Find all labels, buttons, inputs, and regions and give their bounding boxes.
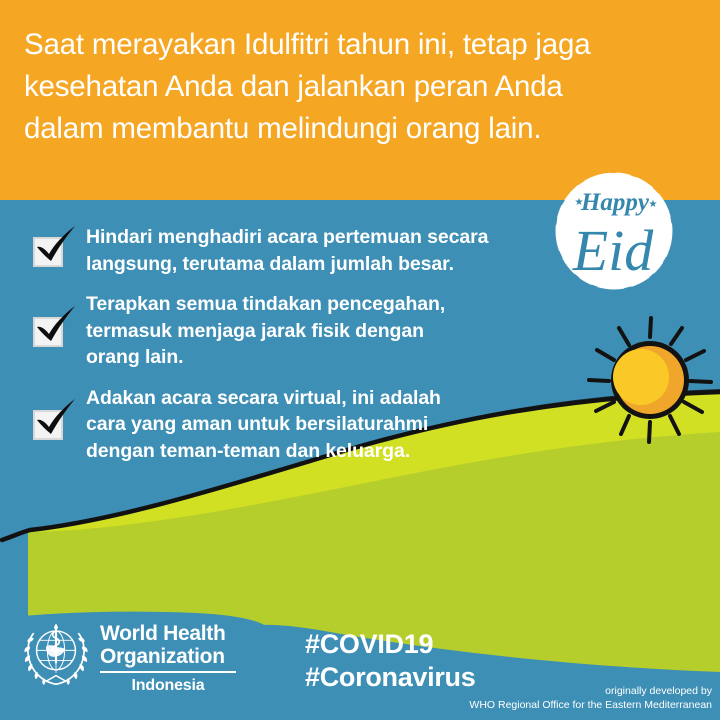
checklist-item-3[interactable]: Adakan acara secara virtual, ini adalah … — [30, 385, 540, 465]
checklist-item-1[interactable]: Hindari menghadiri acara pertemuan secar… — [30, 224, 540, 277]
who-logo: World Health Organization Indonesia — [20, 618, 236, 695]
hashtag-coronavirus: #Coronavirus — [305, 661, 475, 694]
checkmark-icon — [30, 396, 78, 438]
who-country-label: Indonesia — [100, 677, 236, 695]
headline-line-3: dalam membantu melindungi orang lain. — [24, 108, 696, 150]
who-name-line-2: Organization — [100, 645, 236, 668]
who-wordmark: World Health Organization Indonesia — [100, 618, 236, 695]
checklist-item-3-line-2: cara yang aman untuk bersilaturahmi — [86, 411, 540, 438]
poster-canvas: Saat merayakan Idulfitri tahun ini, teta… — [0, 0, 720, 720]
who-name-line-1: World Health — [100, 622, 236, 645]
checklist-item-2-line-3: orang lain. — [86, 344, 540, 371]
checklist-item-3-line-1: Adakan acara secara virtual, ini adalah — [86, 385, 540, 412]
headline-line-1: Saat merayakan Idulfitri tahun ini, teta… — [24, 24, 696, 66]
checklist-item-2-line-1: Terapkan semua tindakan pencegahan, — [86, 291, 540, 318]
checklist-item-1-line-1: Hindari menghadiri acara pertemuan secar… — [86, 224, 540, 251]
checkbox-2[interactable] — [30, 311, 70, 351]
checklist: Hindari menghadiri acara pertemuan secar… — [30, 224, 540, 478]
checklist-item-3-text: Adakan acara secara virtual, ini adalah … — [86, 385, 540, 465]
checklist-item-1-text: Hindari menghadiri acara pertemuan secar… — [86, 224, 540, 277]
checkbox-1[interactable] — [30, 231, 70, 271]
checklist-item-2[interactable]: Terapkan semua tindakan pencegahan, term… — [30, 291, 540, 371]
credit-note: originally developed by WHO Regional Off… — [469, 685, 712, 712]
checklist-item-3-line-3: dengan teman-teman dan keluarga. — [86, 438, 540, 465]
credit-line-2: WHO Regional Office for the Eastern Medi… — [469, 699, 712, 713]
checklist-item-1-line-2: langsung, terutama dalam jumlah besar. — [86, 251, 540, 278]
who-emblem-icon — [20, 618, 92, 690]
checkmark-icon — [30, 223, 78, 265]
hashtags: #COVID19 #Coronavirus — [305, 628, 475, 694]
hashtag-covid19: #COVID19 — [305, 628, 475, 661]
checklist-item-2-text: Terapkan semua tindakan pencegahan, term… — [86, 291, 540, 371]
checklist-item-2-line-2: termasuk menjaga jarak fisik dengan — [86, 318, 540, 345]
checkbox-3[interactable] — [30, 404, 70, 444]
who-divider-rule — [100, 671, 236, 673]
headline: Saat merayakan Idulfitri tahun ini, teta… — [24, 24, 696, 150]
checkmark-icon — [30, 303, 78, 345]
credit-line-1: originally developed by — [469, 685, 712, 699]
headline-line-2: kesehatan Anda dan jalankan peran Anda — [24, 66, 696, 108]
